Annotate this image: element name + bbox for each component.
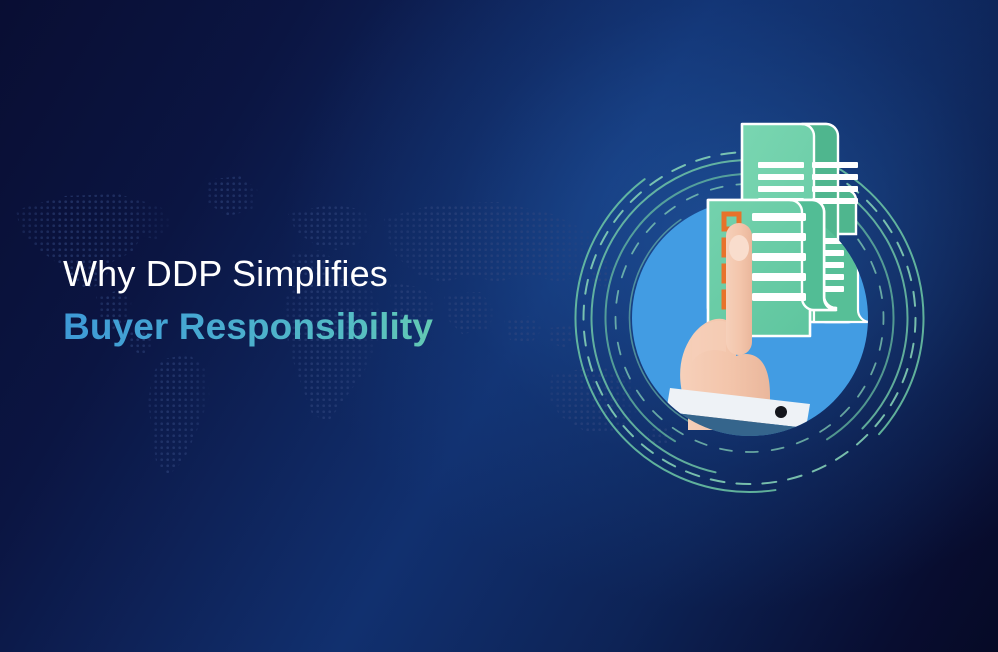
cuff-button (775, 406, 787, 418)
banner-root: Why DDP Simplifies Buyer Responsibility (0, 0, 998, 652)
fingertip-highlight (729, 235, 749, 261)
hand-holding-checklist-illustration (574, 112, 926, 504)
headline-block: Why DDP Simplifies Buyer Responsibility (63, 252, 583, 350)
headline-line-2: Buyer Responsibility (63, 304, 583, 350)
headline-line-1: Why DDP Simplifies (63, 252, 583, 297)
suit-sleeve (660, 412, 806, 504)
